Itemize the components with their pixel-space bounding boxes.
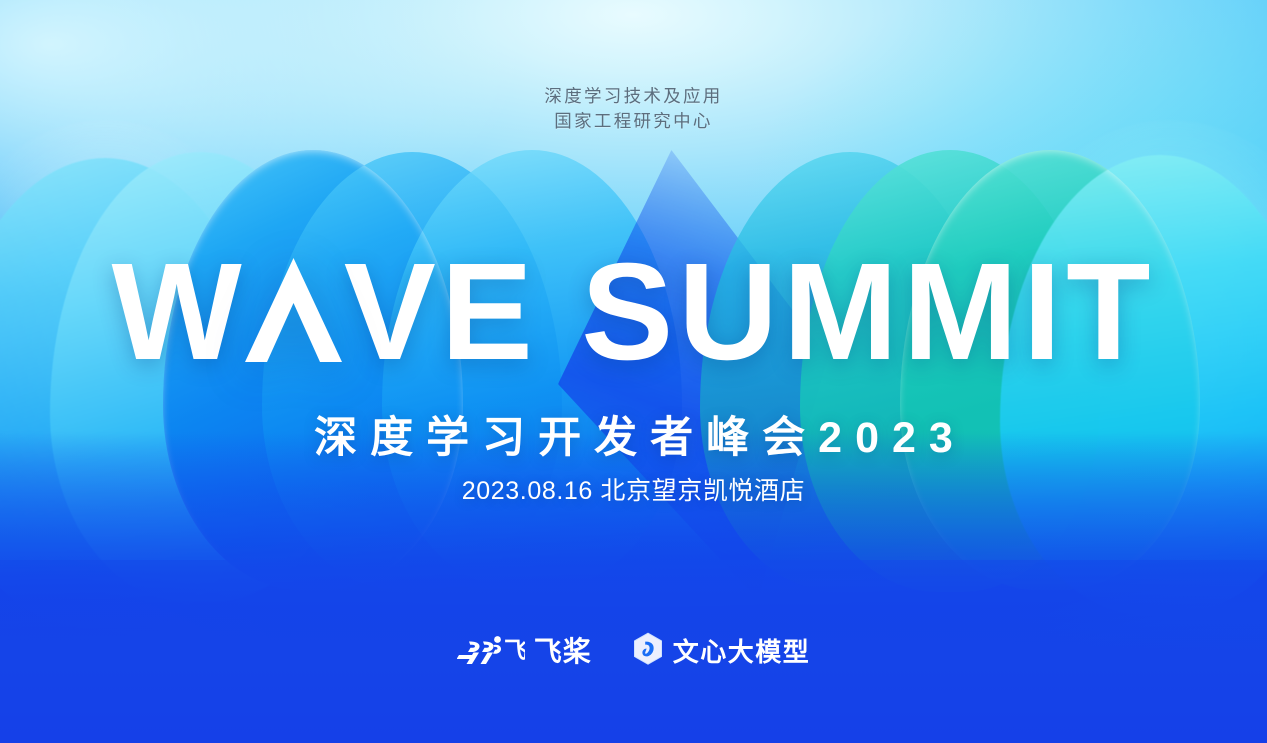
logo-paddlepaddle[interactable]: 飞 飞桨 [457, 634, 592, 669]
logo-label-paddlepaddle: 飞桨 [534, 637, 592, 667]
wordmark-letter-a-icon [245, 258, 342, 362]
wordmark-wave-summit: WVE SUMMIT [0, 243, 1267, 381]
organization-line-2: 国家工程研究中心 [0, 109, 1267, 134]
paddle-logo-icon: 飞 [457, 634, 525, 669]
logo-ernie-bot[interactable]: 文心大模型 [632, 632, 811, 671]
logo-label-ernie-bot: 文心大模型 [673, 637, 811, 667]
date-venue-line: 2023.08.16 北京望京凯悦酒店 [0, 474, 1267, 508]
organization-line-1: 深度学习技术及应用 [0, 84, 1267, 109]
wordmark-part-1: W [112, 243, 247, 381]
sponsor-logo-row: 飞 飞桨 文心大模型 [0, 632, 1267, 671]
organization-block: 深度学习技术及应用 国家工程研究中心 [0, 84, 1267, 134]
chinese-title: 深度学习开发者峰会2023 [0, 412, 1267, 464]
wave-summit-poster: 深度学习技术及应用 国家工程研究中心 WVE SUMMIT 深度学习开发者峰会2… [0, 0, 1267, 743]
wordmark-part-2: VE SUMMIT [344, 243, 1156, 381]
svg-text:飞: 飞 [504, 637, 525, 663]
ernie-cube-logo-icon [632, 632, 664, 671]
